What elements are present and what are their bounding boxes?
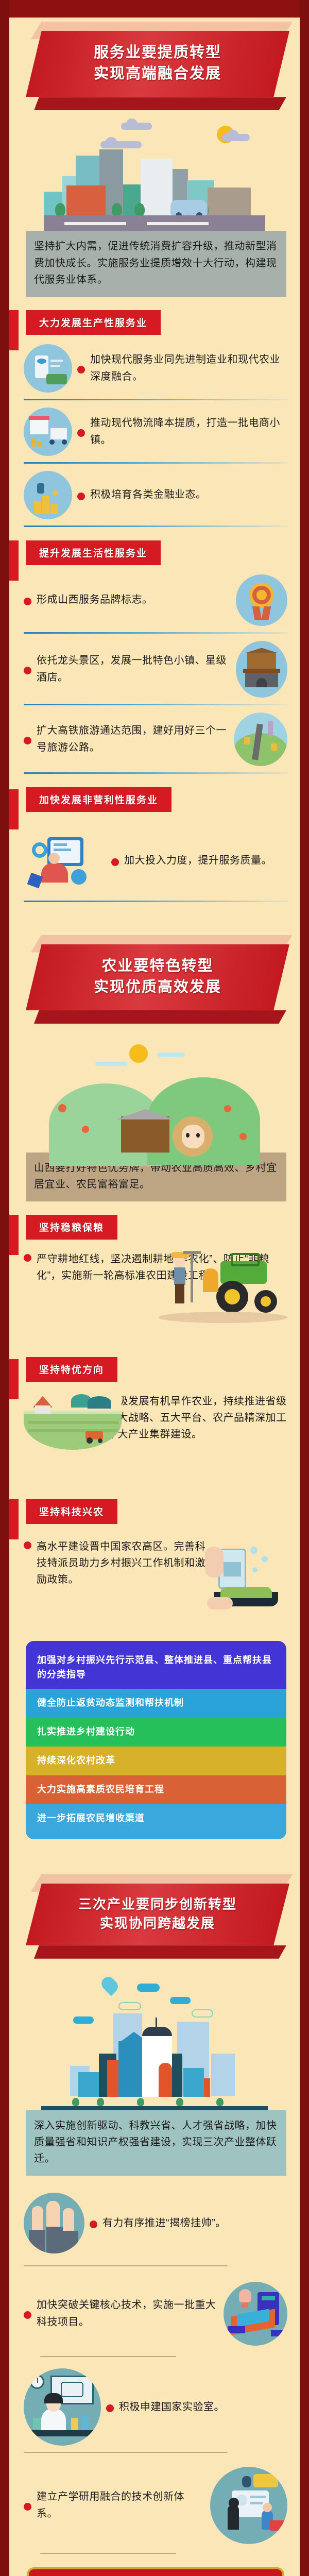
bullet-dot	[24, 2503, 31, 2511]
bullet-dot	[24, 667, 31, 674]
tree-icon	[72, 2098, 79, 2106]
hero2-title-line-2: 实现优质高效发展	[31, 977, 284, 998]
tree-icon	[216, 2098, 224, 2106]
agri-heading-1: 坚持稳粮保粮	[26, 1215, 117, 1240]
bullet-text: 加快突破关键核心技术，实施一批重大科技项目。	[37, 2297, 218, 2330]
bullet-text: 积极发展有机旱作农业，持续推进省级三大战略、五大平台、农产品精深加工十大产业集群…	[107, 1393, 287, 1443]
cloud-icon	[137, 1984, 160, 1992]
mobile-service-icon	[24, 344, 72, 393]
ribbon-shadow-layer	[34, 97, 286, 110]
cloud-icon	[95, 1062, 127, 1066]
bullet-row: 加大投入力度，提升服务质量。	[24, 827, 287, 894]
stack-item: 健全防止返贫动态监测和帮扶机制	[26, 1689, 286, 1718]
stack-item: 进一步拓展农民增收渠道	[26, 1804, 286, 1839]
building-shape	[107, 2060, 118, 2097]
building-shape	[183, 2068, 204, 2097]
bullet-row: 建立产学研用融合的技术创新体系。	[24, 2464, 287, 2547]
research-project-icon	[224, 2282, 287, 2346]
service-quality-illustration	[24, 830, 106, 892]
farmland-illustration	[24, 1393, 122, 1450]
bullet-row: 扩大高铁旅游通达范围，建好用好三个一号旅游公路。	[24, 713, 287, 766]
bullet-row: 依托龙头景区，发展一批特色小镇、星级酒店。	[24, 641, 287, 698]
bullet-row: 有力有序推进“揭榜挂帅”。	[24, 2187, 287, 2259]
divider	[24, 462, 288, 464]
tree-icon	[55, 203, 65, 216]
intro-quote: 坚持扩大内需，促进传统消费扩容升级，推动新型消费加快成长。实施服务业提质增效十大…	[26, 231, 286, 296]
hero3-title-line-2: 实现协同跨越发展	[31, 1914, 284, 1933]
divider	[24, 704, 288, 705]
tree-icon	[134, 203, 145, 216]
agri-bullet-block-3: 高水平建设晋中国家农高区。完善科技特派员助力乡村振兴工作机制和激励政策。	[24, 1538, 287, 1629]
tree-icon	[112, 203, 122, 216]
bullet-row: 加快突破关键核心技术，实施一批重大科技项目。	[24, 2278, 287, 2350]
modern-city-illustration	[41, 1976, 268, 2110]
hero-title-line-2: 实现高端融合发展	[31, 63, 284, 84]
bullet-dot	[111, 858, 119, 866]
ribbon-shadow-layer	[34, 1010, 286, 1024]
building-shape	[159, 2063, 172, 2097]
cloud-icon	[118, 2002, 141, 2010]
farmer-face	[182, 1125, 204, 1148]
tractor-illustration	[159, 1251, 287, 1323]
divider	[40, 2356, 176, 2357]
fruit-icon	[224, 1105, 231, 1112]
divider	[40, 2553, 176, 2554]
bullet-text: 推动现代物流降本提质，打造一批电商小镇。	[90, 415, 287, 448]
divider	[24, 2452, 228, 2453]
building-shape	[66, 185, 106, 216]
hero-banner-1: 服务业要提质转型 实现高端融合发展	[26, 18, 289, 112]
hero-banner-3: 三次产业要同步创新转型 实现协同跨越发展	[26, 1870, 289, 1961]
bullet-dot	[24, 598, 31, 605]
pagoda-landmark-icon	[236, 641, 287, 698]
smart-agriculture-icon	[205, 1544, 287, 1611]
bullet-text: 依托龙头景区，发展一批特色小镇、星级酒店。	[37, 652, 231, 686]
bullet-dot	[24, 2311, 31, 2319]
section-heading-2: 提升发展生活性服务业	[26, 540, 161, 565]
bullet-text: 有力有序推进“揭榜挂帅”。	[102, 2215, 287, 2231]
hero-title-line-1: 服务业要提质转型	[31, 42, 284, 63]
laboratory-icon	[24, 2368, 101, 2446]
farmer-eye	[186, 1133, 190, 1138]
farmhouse-icon	[121, 1116, 169, 1153]
bullet-row: 积极申建国家实验室。	[24, 2368, 287, 2446]
bullet-row: 加快现代服务业同先进制造业和现代农业深度融合。	[24, 344, 287, 393]
tree-icon	[137, 2098, 144, 2106]
raised-hands-icon	[24, 2193, 84, 2253]
building-shape	[78, 2072, 99, 2097]
infographic-page: 服务业要提质转型 实现高端融合发展	[0, 0, 309, 2576]
tourism-road-icon	[234, 713, 287, 766]
content-area: 服务业要提质转型 实现高端融合发展	[9, 18, 300, 2576]
bullet-text: 积极申建国家实验室。	[119, 2399, 287, 2415]
tree-icon	[176, 2098, 183, 2106]
sun-icon	[129, 1044, 148, 1063]
bullet-text: 加大投入力度，提升服务质量。	[124, 852, 287, 869]
bullet-dot	[77, 366, 85, 374]
agri-bullet-block-1: 严守耕地红线，坚决遏制耕地“非农化”、防止“非粮化”，实施新一轮高标准农田建设工…	[24, 1251, 287, 1344]
divider	[24, 2265, 228, 2266]
bullet-dot	[90, 2221, 97, 2228]
hero3-title-line-1: 三次产业要同步创新转型	[31, 1895, 284, 1914]
ribbon-shadow-layer	[34, 1945, 286, 1959]
road-shape	[44, 215, 265, 231]
building-shape	[141, 159, 173, 216]
bullet-row: 推动现代物流降本提质，打造一批电商小镇。	[24, 408, 287, 456]
hero2-title-line-1: 农业要特色转型	[31, 956, 284, 977]
cloud-icon	[222, 134, 250, 141]
cloud-icon	[73, 2016, 94, 2024]
cloud-icon	[157, 1053, 185, 1057]
agri-heading-3: 坚持科技兴农	[26, 1499, 117, 1524]
industry-quote: 深入实施创新驱动、科教兴省、人才强省战略，加快质量强省和知识产权强省建设，实现三…	[26, 2110, 286, 2176]
agri-heading-2: 坚持特优方向	[26, 1357, 117, 1382]
fruit-icon	[82, 1126, 89, 1133]
cloud-icon	[170, 1997, 191, 2004]
farm-illustration	[44, 1039, 265, 1153]
agri-bullet-block-2: 积极发展有机旱作农业，持续推进省级三大战略、五大平台、农产品精深加工十大产业集群…	[24, 1393, 287, 1486]
divider	[24, 901, 288, 902]
fruit-icon	[58, 1104, 66, 1112]
building-shape	[211, 2054, 235, 2096]
bullet-row: 积极培育各类金融业态。	[24, 471, 287, 519]
section-heading-3: 加快发展非营利性服务业	[26, 787, 171, 812]
divider	[24, 399, 288, 400]
bullet-row: 形成山西服务品牌标志。	[24, 574, 287, 626]
bullet-dot	[77, 429, 85, 437]
ribbon-body: 农业要特色转型 实现优质高效发展	[26, 944, 289, 1010]
bullet-dot	[77, 493, 85, 500]
fruit-icon	[239, 1133, 247, 1140]
cloud-icon	[121, 123, 152, 130]
farmer-eye	[196, 1133, 200, 1138]
bullet-text: 建立产学研用融合的技术创新体系。	[37, 2488, 205, 2522]
building-shape	[208, 188, 251, 216]
dome-shape	[142, 2027, 172, 2036]
collaboration-icon	[210, 2467, 287, 2544]
map-pin-icon	[99, 1974, 121, 1995]
bullet-dot	[106, 2404, 114, 2412]
ground-shape	[41, 2106, 268, 2110]
stack-item: 扎实推进乡村建设行动	[26, 1718, 286, 1747]
ribbon-body: 三次产业要同步创新转型 实现协同跨越发展	[26, 1884, 289, 1945]
hero-banner-2: 农业要特色转型 实现优质高效发展	[26, 931, 289, 1026]
logistics-icon	[24, 408, 72, 456]
bullet-text: 形成山西服务品牌标志。	[37, 591, 231, 608]
bullet-text: 扩大高铁旅游通达范围，建好用好三个一号旅游公路。	[37, 722, 229, 756]
bullet-text: 高水平建设晋中国家农高区。完善科技特派员助力乡村振兴工作机制和激励政策。	[37, 1538, 207, 1588]
bullet-text: 加快现代服务业同先进制造业和现代农业深度融合。	[90, 351, 287, 385]
right-red-rail	[300, 0, 309, 2576]
stack-item: 大力实施高素质农民培育工程	[26, 1775, 286, 1804]
finance-growth-icon	[24, 471, 72, 519]
bullet-dot	[24, 737, 31, 744]
cloud-icon	[192, 2009, 213, 2018]
bullet-dot	[24, 1541, 31, 1549]
tree-icon	[97, 2098, 104, 2106]
city-illustration	[44, 123, 265, 231]
spire-shape	[156, 2018, 157, 2028]
section-heading-1: 大力发展生产性服务业	[26, 310, 161, 335]
medal-badge-icon	[236, 574, 287, 626]
bullet-text: 积极培育各类金融业态。	[90, 486, 287, 503]
cloud-icon	[100, 141, 142, 148]
stack-item: 持续深化农村改革	[26, 1747, 286, 1775]
divider	[24, 632, 288, 634]
ribbon-body: 服务业要提质转型 实现高端融合发展	[26, 31, 289, 97]
left-red-rail	[0, 0, 9, 2576]
bullet-dot	[24, 1254, 31, 1262]
policy-stack-list: 加强对乡村振兴先行示范县、整体推进县、重点帮扶县的分类指导 健全防止返贫动态监测…	[26, 1641, 286, 1839]
stack-item: 加强对乡村振兴先行示范县、整体推进县、重点帮扶县的分类指导	[26, 1641, 286, 1689]
digital-economy-banner: 山西发展数字经济 有场景 有前景	[27, 2567, 284, 2576]
